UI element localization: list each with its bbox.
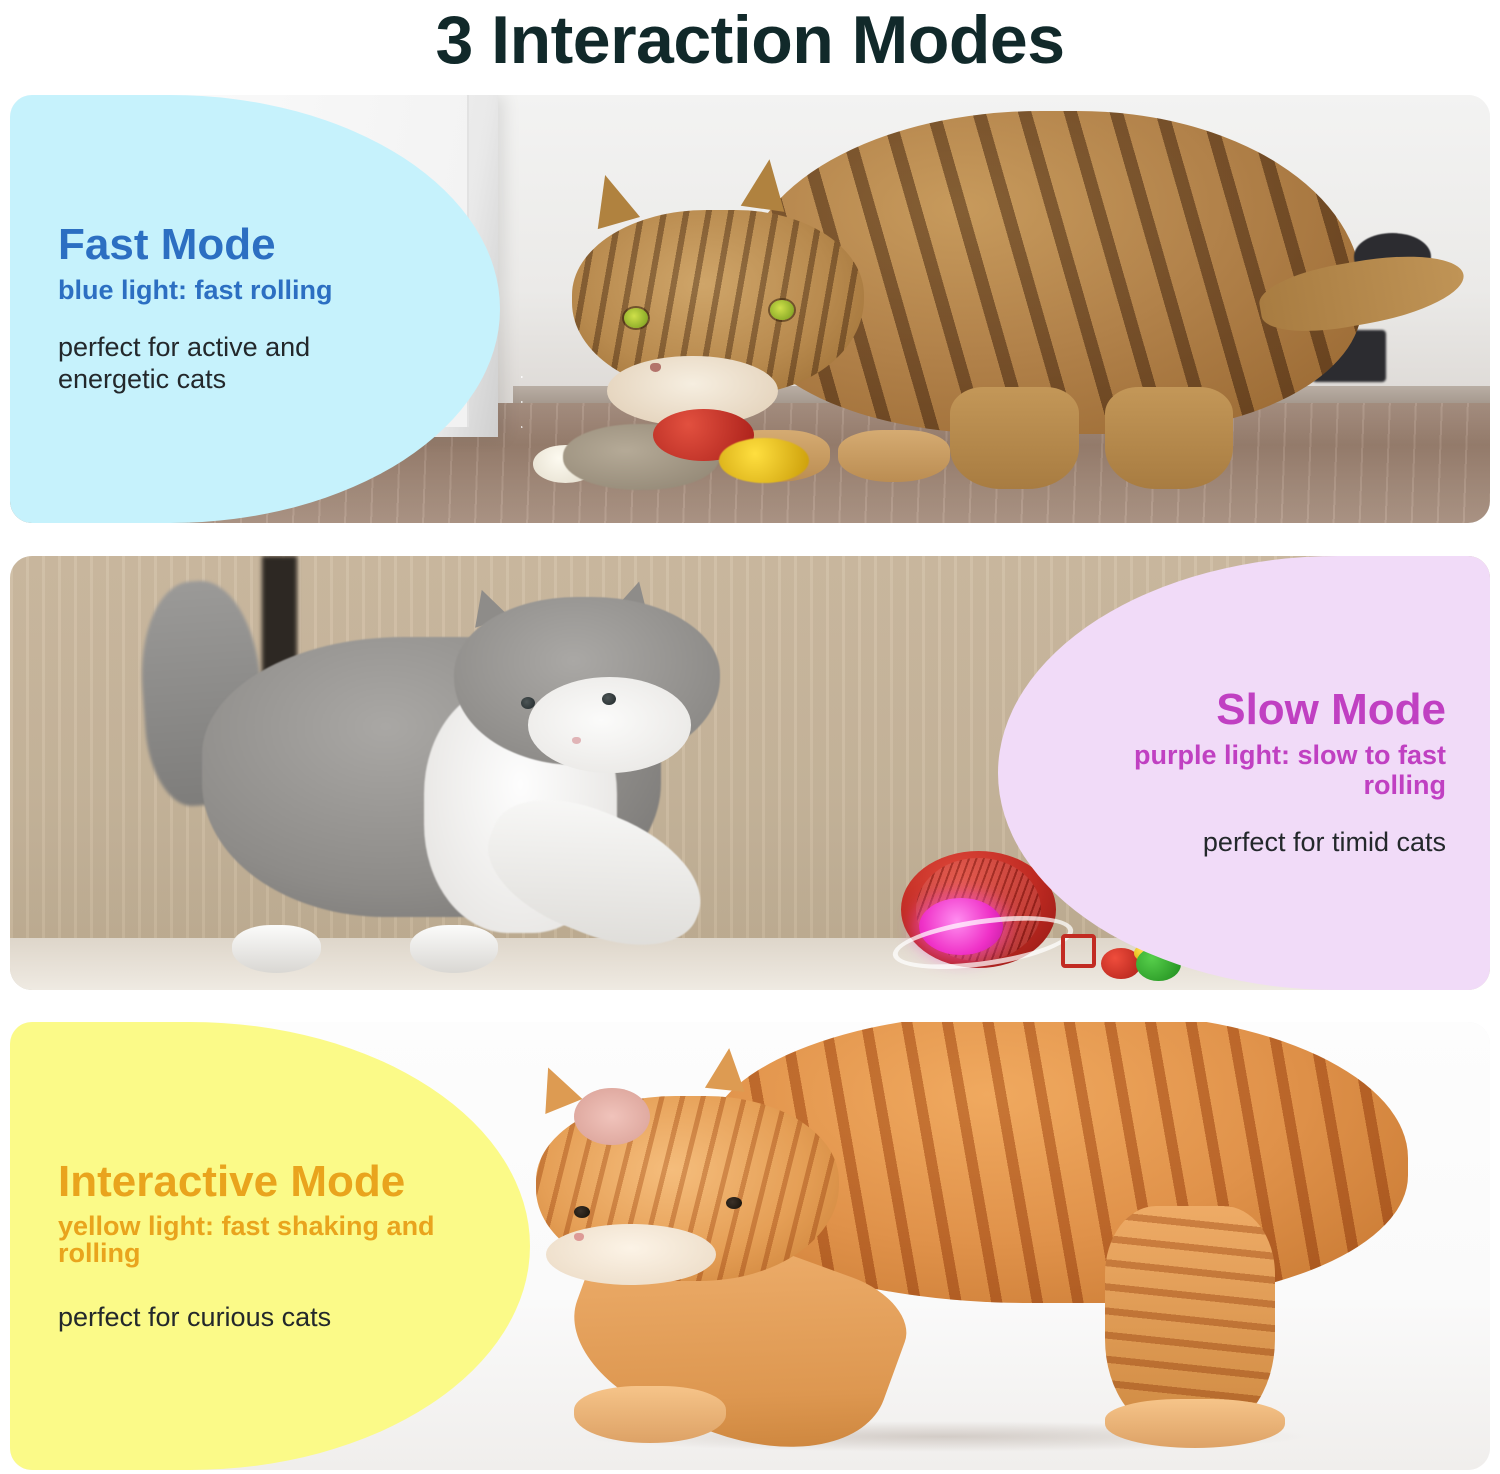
mode-panel-fast: Fast Mode blue light: fast rolling perfe… xyxy=(10,95,1490,523)
kitten-eye-left xyxy=(521,697,535,709)
cat-ear-left xyxy=(584,169,640,229)
mode-subtitle-interactive: yellow light: fast shaking and rolling xyxy=(58,1213,458,1267)
orange-tabby-cat xyxy=(498,1022,1445,1452)
mode-panel-interactive: Interactive Mode yellow light: fast shak… xyxy=(10,1022,1490,1470)
kitten-hind-paw xyxy=(410,925,499,973)
mode-description-fast: perfect for active and energetic cats xyxy=(58,331,388,396)
kitten-white-face-patch xyxy=(528,677,691,773)
mode-title-fast: Fast Mode xyxy=(58,222,440,268)
cat-nose xyxy=(574,1233,584,1241)
kitten-hind-paw xyxy=(232,925,321,973)
cat-ball-toy xyxy=(543,407,795,501)
cat-hind-leg xyxy=(950,387,1079,489)
cat-ear-left xyxy=(530,1060,583,1114)
cat-inner-ear xyxy=(574,1088,650,1145)
mode-subtitle-fast: blue light: fast rolling xyxy=(58,275,440,305)
cat-hind-paw xyxy=(1105,1399,1285,1447)
mode-description-interactive: perfect for curious cats xyxy=(58,1301,470,1333)
page-title: 3 Interaction Modes xyxy=(0,0,1500,88)
cat-front-paw xyxy=(574,1386,726,1443)
cat-hind-leg xyxy=(1105,387,1234,489)
mode-title-slow: Slow Mode xyxy=(1216,687,1446,733)
toy-clip xyxy=(1061,934,1097,968)
toy-yellow-pom xyxy=(719,438,810,483)
mode-title-interactive: Interactive Mode xyxy=(58,1159,470,1205)
mode-description-slow: perfect for timid cats xyxy=(1203,826,1446,858)
cat-ear-right xyxy=(741,156,792,212)
mode-subtitle-slow: purple light: slow to fast rolling xyxy=(1116,740,1446,800)
cat-ear-right xyxy=(705,1046,749,1092)
mode-panel-slow: Slow Mode purple light: slow to fast rol… xyxy=(10,556,1490,990)
grey-white-kitten xyxy=(143,573,883,972)
